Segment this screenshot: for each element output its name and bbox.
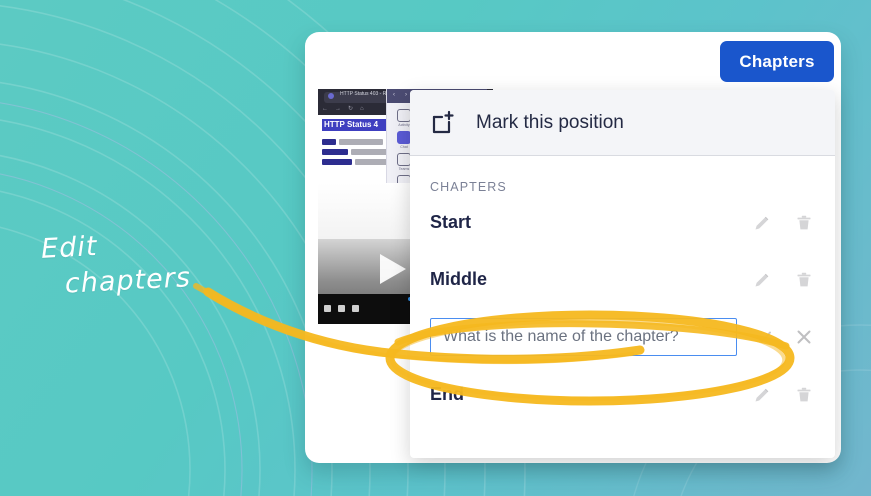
row-actions[interactable] <box>753 271 813 289</box>
back-icon[interactable]: ← <box>322 106 328 112</box>
favicon-icon <box>328 93 334 99</box>
chapter-row[interactable]: Start <box>410 194 835 251</box>
row-actions[interactable] <box>753 214 813 232</box>
bell-icon <box>397 109 411 122</box>
new-chapter-row[interactable] <box>410 308 835 366</box>
delete-chapter-button[interactable] <box>795 271 813 289</box>
forward-icon[interactable]: → <box>335 106 341 112</box>
annotation-line-2: chapters <box>42 261 192 305</box>
chapter-name: End <box>430 384 753 405</box>
browser-nav[interactable]: ← → ↻ ⌂ <box>322 104 364 113</box>
back-icon[interactable]: ‹ <box>393 92 395 98</box>
status-badge <box>322 139 336 145</box>
confirm-chapter-button[interactable] <box>755 328 773 346</box>
text-line <box>339 139 383 145</box>
forward-icon[interactable]: › <box>405 92 407 98</box>
control-buttons[interactable] <box>324 305 359 312</box>
mark-this-position-button[interactable]: Mark this position <box>410 90 835 156</box>
chat-icon <box>397 131 411 144</box>
chapters-list: CHAPTERS Start Middle <box>410 156 835 423</box>
delete-chapter-button[interactable] <box>795 214 813 232</box>
edit-chapter-button[interactable] <box>753 214 771 232</box>
chapters-popup: Mark this position CHAPTERS Start Middle <box>410 90 835 458</box>
settings-icon[interactable] <box>352 305 359 312</box>
annotation-line-1: Edit <box>40 231 98 265</box>
home-icon[interactable]: ⌂ <box>360 106 364 112</box>
status-badge <box>322 159 352 165</box>
mark-position-icon <box>430 109 458 137</box>
chapters-section-label: CHAPTERS <box>410 156 835 194</box>
volume-icon[interactable] <box>338 305 345 312</box>
annotation-text: Edit chapters <box>40 224 192 305</box>
reload-icon[interactable]: ↻ <box>348 105 353 112</box>
chapter-row[interactable]: Middle <box>410 251 835 308</box>
row-actions[interactable] <box>755 328 813 346</box>
mark-this-position-label: Mark this position <box>476 112 624 134</box>
play-icon[interactable] <box>380 254 406 284</box>
screenshot-root: Chapters HTTP Status 403 - Ref ← → ↻ ⌂ H… <box>0 0 871 496</box>
delete-chapter-button[interactable] <box>795 386 813 404</box>
edit-chapter-button[interactable] <box>753 386 771 404</box>
play-button-icon[interactable] <box>324 305 331 312</box>
status-badge <box>322 149 348 155</box>
cancel-chapter-button[interactable] <box>795 328 813 346</box>
chapter-row[interactable]: End <box>410 366 835 423</box>
edit-chapter-button[interactable] <box>753 271 771 289</box>
people-icon <box>397 153 411 166</box>
browser-tab-title: HTTP Status 403 - Ref <box>340 91 390 97</box>
chapter-name: Start <box>430 212 753 233</box>
row-actions[interactable] <box>753 386 813 404</box>
chapters-button[interactable]: Chapters <box>720 41 834 82</box>
chapter-name-input[interactable] <box>430 318 737 356</box>
chapter-name: Middle <box>430 269 753 290</box>
